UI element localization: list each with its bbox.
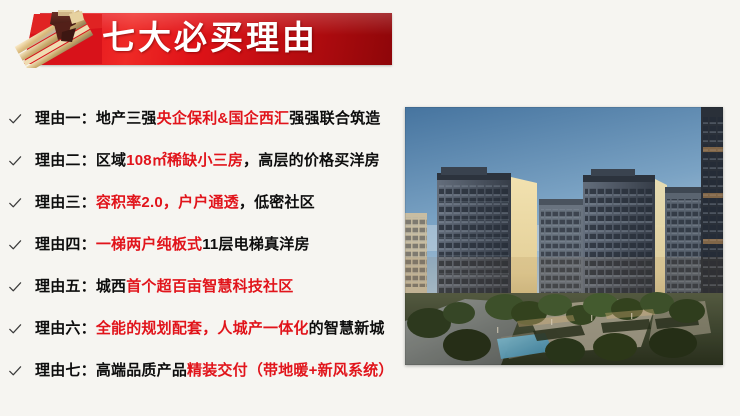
- reason-text-5: 理由五：城西首个超百亩智慧科技社区: [35, 277, 293, 297]
- check-icon: [8, 196, 22, 210]
- reason-part-2-1: 108㎡稀缺小三房: [126, 152, 243, 169]
- reason-part-1-2: 强强联合筑造: [289, 110, 380, 127]
- reason-text-1: 理由一：地产三强央企保利&国企西汇强强联合筑造: [35, 109, 380, 129]
- reason-part-3-1: ，低密社区: [239, 194, 315, 211]
- page-title: 七大必买理由: [102, 18, 318, 58]
- list-item: 理由七：高端品质产品精装交付（带地暖+新风系统）: [0, 350, 404, 392]
- reason-part-6-0: 全能的规划配套，人城产一体化: [96, 320, 309, 337]
- check-icon: [8, 364, 22, 378]
- reason-text-3: 理由三：容积率2.0，户户通透，低密社区: [35, 193, 315, 213]
- rendering-artwork: [405, 107, 723, 365]
- check-icon: [8, 112, 22, 126]
- reason-label-1: 理由一：: [35, 110, 96, 127]
- reason-text-4: 理由四：一梯两户纯板式11层电梯真洋房: [35, 235, 310, 255]
- reason-text-6: 理由六：全能的规划配套，人城产一体化的智慧新城: [35, 319, 385, 339]
- reason-label-2: 理由二：: [35, 152, 96, 169]
- reason-part-2-0: 区域: [96, 152, 126, 169]
- check-icon: [8, 238, 22, 252]
- reason-part-7-0: 高端品质产品: [96, 362, 187, 379]
- list-item: 理由一：地产三强央企保利&国企西汇强强联合筑造: [0, 98, 404, 140]
- list-item: 理由五：城西首个超百亩智慧科技社区: [0, 266, 404, 308]
- check-icon: [8, 280, 22, 294]
- reason-part-1-1: 央企保利&国企西汇: [157, 110, 290, 127]
- reason-text-7: 理由七：高端品质产品精装交付（带地暖+新风系统）: [35, 361, 394, 381]
- reason-label-5: 理由五：: [35, 278, 96, 295]
- reason-label-4: 理由四：: [35, 236, 96, 253]
- ribbon-scroll-icon: [14, 8, 102, 68]
- reason-part-1-0: 地产三强: [96, 110, 157, 127]
- reason-label-7: 理由七：: [35, 362, 96, 379]
- reason-part-2-2: ，高层的价格买洋房: [243, 152, 380, 169]
- slide-canvas: 七大必买理由: [0, 0, 740, 416]
- reason-list: 理由一：地产三强央企保利&国企西汇强强联合筑造 理由二：区域108㎡稀缺小三房，…: [0, 98, 404, 392]
- reason-text-2: 理由二：区域108㎡稀缺小三房，高层的价格买洋房: [35, 151, 380, 171]
- reason-part-3-0: 容积率2.0，户户通透: [96, 194, 239, 211]
- list-item: 理由三：容积率2.0，户户通透，低密社区: [0, 182, 404, 224]
- check-icon: [8, 322, 22, 336]
- reason-part-4-0: 一梯两户纯板式: [96, 236, 202, 253]
- reason-part-5-0: 城西: [96, 278, 126, 295]
- title-banner: 七大必买理由: [14, 8, 392, 68]
- reason-label-3: 理由三：: [35, 194, 96, 211]
- residential-rendering-image: [405, 107, 723, 365]
- reason-label-6: 理由六：: [35, 320, 96, 337]
- reason-part-6-1: 的智慧新城: [309, 320, 385, 337]
- reason-part-5-1: 首个超百亩智慧科技社区: [126, 278, 293, 295]
- list-item: 理由六：全能的规划配套，人城产一体化的智慧新城: [0, 308, 404, 350]
- reason-part-7-1: 精装交付（带地暖+新风系统）: [187, 362, 394, 379]
- reason-part-4-1: 11层电梯真洋房: [202, 236, 309, 253]
- list-item: 理由四：一梯两户纯板式11层电梯真洋房: [0, 224, 404, 266]
- check-icon: [8, 154, 22, 168]
- list-item: 理由二：区域108㎡稀缺小三房，高层的价格买洋房: [0, 140, 404, 182]
